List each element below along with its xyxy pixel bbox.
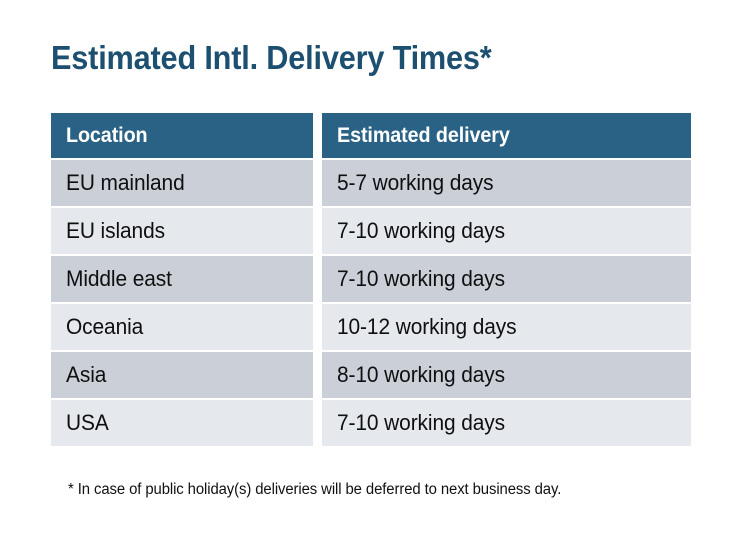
table-row: USA 7-10 working days — [51, 400, 691, 446]
cell-location: Asia — [51, 352, 313, 398]
table-row: Asia 8-10 working days — [51, 352, 691, 398]
table-row: Oceania 10-12 working days — [51, 304, 691, 350]
cell-delivery-value: 10-12 working days — [337, 314, 517, 340]
cell-location: Middle east — [51, 256, 313, 302]
cell-delivery-value: 8-10 working days — [337, 362, 505, 388]
cell-location: EU islands — [51, 208, 313, 254]
footnote-text: * In case of public holiday(s) deliverie… — [68, 481, 561, 499]
column-header-delivery-label: Estimated delivery — [337, 124, 510, 148]
cell-location: EU mainland — [51, 160, 313, 206]
cell-location-value: Oceania — [66, 314, 143, 340]
column-header-location: Location — [51, 113, 313, 158]
cell-delivery-value: 7-10 working days — [337, 266, 505, 292]
table-row: Middle east 7-10 working days — [51, 256, 691, 302]
cell-location: USA — [51, 400, 313, 446]
delivery-times-table: Location Estimated delivery EU mainland … — [51, 113, 691, 446]
cell-delivery: 8-10 working days — [322, 352, 691, 398]
cell-delivery: 7-10 working days — [322, 256, 691, 302]
delivery-times-panel: Estimated Intl. Delivery Times* Location… — [0, 0, 745, 536]
table-row: EU islands 7-10 working days — [51, 208, 691, 254]
cell-delivery: 5-7 working days — [322, 160, 691, 206]
cell-delivery: 10-12 working days — [322, 304, 691, 350]
cell-delivery: 7-10 working days — [322, 208, 691, 254]
table-header-row: Location Estimated delivery — [51, 113, 691, 158]
cell-location-value: Asia — [66, 362, 106, 388]
cell-location: Oceania — [51, 304, 313, 350]
column-header-delivery: Estimated delivery — [322, 113, 691, 158]
cell-location-value: USA — [66, 410, 109, 436]
cell-location-value: Middle east — [66, 266, 172, 292]
cell-delivery-value: 7-10 working days — [337, 218, 505, 244]
cell-delivery-value: 5-7 working days — [337, 170, 493, 196]
cell-location-value: EU islands — [66, 218, 165, 244]
page-title: Estimated Intl. Delivery Times* — [51, 38, 492, 78]
column-header-location-label: Location — [66, 124, 148, 148]
table-row: EU mainland 5-7 working days — [51, 160, 691, 206]
cell-delivery: 7-10 working days — [322, 400, 691, 446]
cell-location-value: EU mainland — [66, 170, 185, 196]
cell-delivery-value: 7-10 working days — [337, 410, 505, 436]
